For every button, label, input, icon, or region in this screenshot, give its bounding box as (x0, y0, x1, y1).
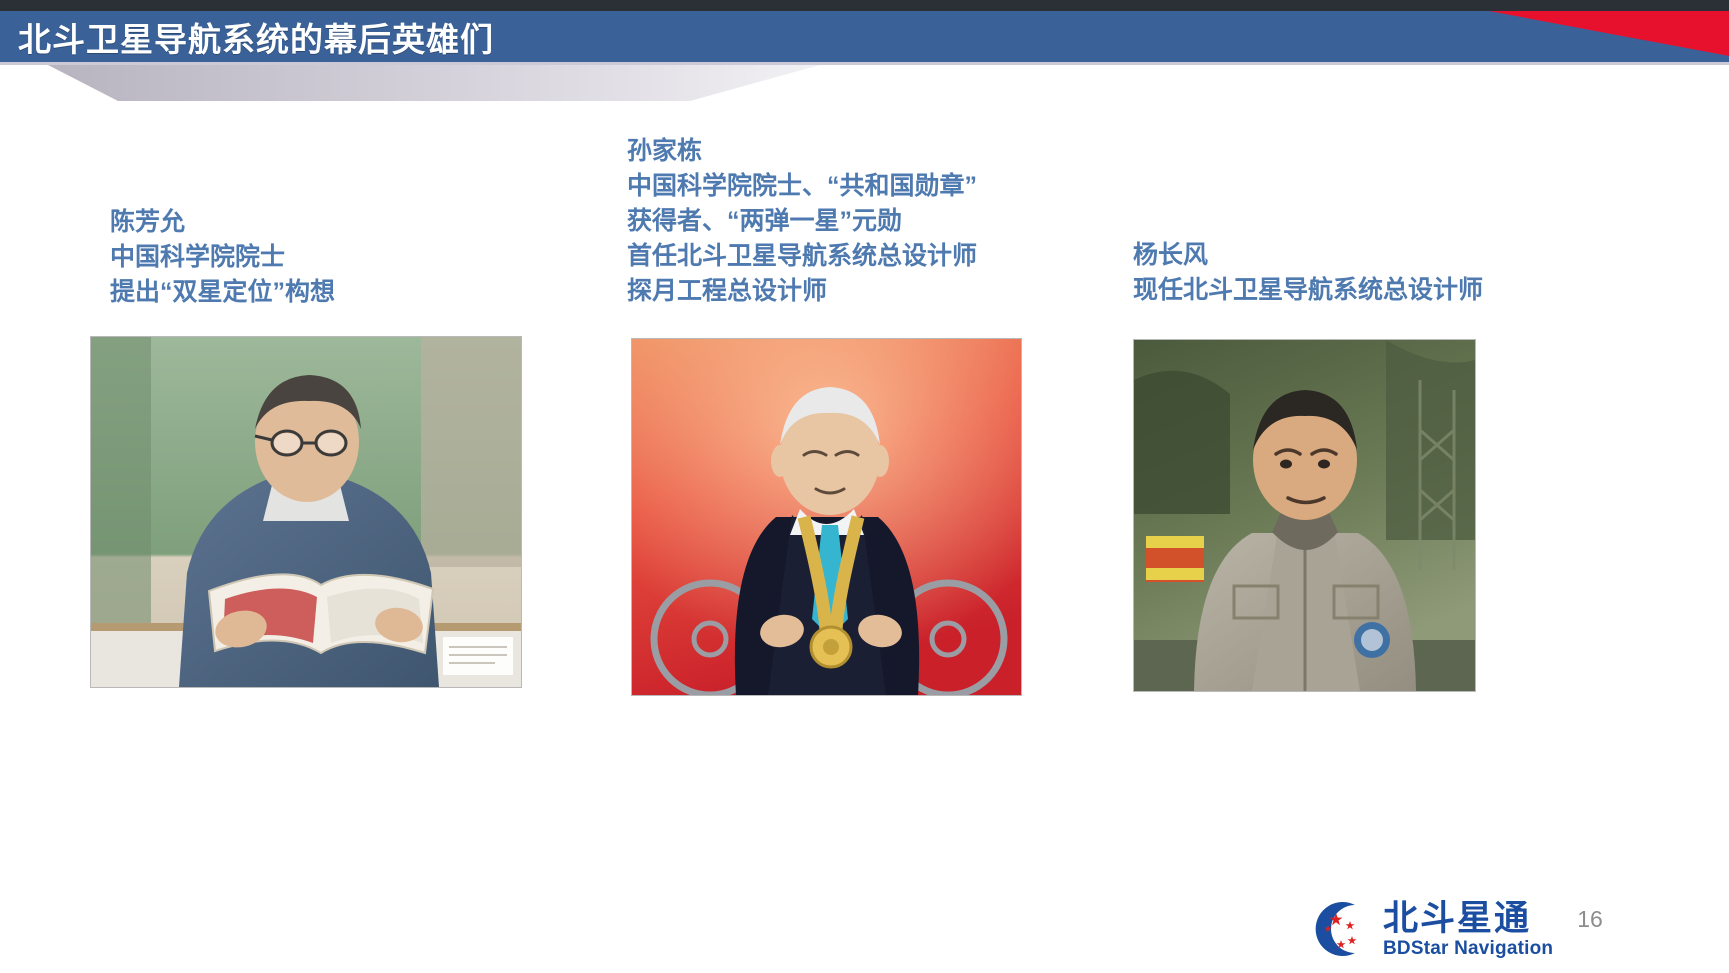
brand-logo-text: 北斗星通 BDStar Navigation (1383, 901, 1553, 958)
top-dark-strip (0, 0, 1729, 11)
brand-name-en: BDStar Navigation (1383, 939, 1553, 958)
slide-title-banner: 北斗卫星导航系统的幕后英雄们 (0, 11, 1729, 62)
person-card-1: 陈芳允 中国科学院院士 提出“双星定位”构想 (110, 205, 335, 310)
person-2-photo (631, 338, 1022, 696)
page-number: 16 (1577, 906, 1603, 933)
person-card-3: 杨长风 现任北斗卫星导航系统总设计师 (1133, 238, 1483, 308)
person-2-name: 孙家栋 (627, 134, 977, 169)
bdstar-crescent-stars-icon (1311, 898, 1373, 960)
banner-fold-shadow (0, 65, 820, 101)
person-1-photo (90, 336, 522, 688)
person-1-line-1: 中国科学院院士 (110, 240, 335, 275)
red-triangle-accent (1489, 11, 1729, 62)
person-3-name: 杨长风 (1133, 238, 1483, 273)
person-2-line-3: 首任北斗卫星导航系统总设计师 (627, 239, 977, 274)
brand-name-cn: 北斗星通 (1383, 901, 1553, 936)
person-card-2: 孙家栋 中国科学院院士、“共和国勋章” 获得者、“两弹一星”元勋 首任北斗卫星导… (627, 134, 977, 309)
page-title: 北斗卫星导航系统的幕后英雄们 (18, 13, 494, 61)
person-1-line-2: 提出“双星定位”构想 (110, 275, 335, 310)
person-3-line-1: 现任北斗卫星导航系统总设计师 (1133, 273, 1483, 308)
person-1-name: 陈芳允 (110, 205, 335, 240)
brand-logo-block: 北斗星通 BDStar Navigation 16 (1311, 898, 1603, 960)
person-2-line-4: 探月工程总设计师 (627, 274, 977, 309)
person-3-photo (1133, 339, 1476, 692)
person-2-line-2: 获得者、“两弹一星”元勋 (627, 204, 977, 239)
person-2-line-1: 中国科学院院士、“共和国勋章” (627, 169, 977, 204)
